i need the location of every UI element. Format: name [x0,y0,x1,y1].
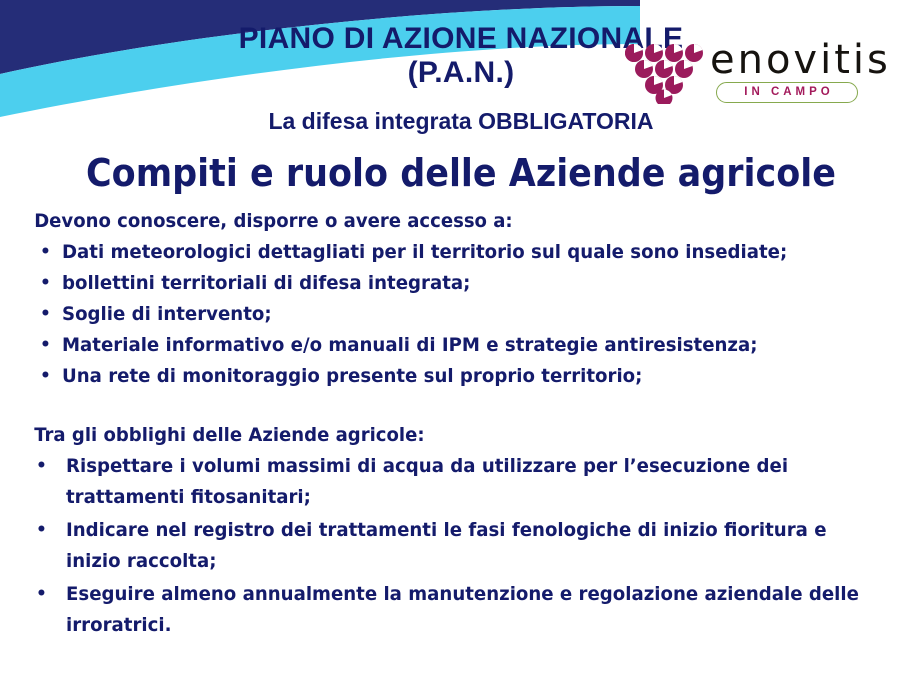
list-item-text: bollettini territoriali di difesa integr… [62,268,883,299]
list-item-text: Soglie di intervento; [62,299,883,330]
requirements-list: Dati meteorologici dettagliati per il te… [0,237,922,392]
in-campo-badge: IN CAMPO [716,82,858,103]
section-spacer [0,392,922,420]
list-item-text: Una rete di monitoraggio presente sul pr… [62,361,883,392]
section-requirements-heading: Devono conoscere, disporre o avere acces… [0,206,876,237]
section-obligations-heading: Tra gli obblighi delle Aziende agricole: [0,420,876,451]
list-item-text: Indicare nel registro dei trattamenti le… [66,515,883,577]
list-item-text: Rispettare i volumi massimi di acqua da … [66,451,883,513]
list-item: Soglie di intervento; [0,299,922,330]
list-item: Rispettare i volumi massimi di acqua da … [0,451,922,513]
list-item: Indicare nel registro dei trattamenti le… [0,515,922,577]
list-item: Eseguire almeno annualmente la manutenzi… [0,579,922,641]
list-item-text: Dati meteorologici dettagliati per il te… [62,237,883,268]
slide-subtitle: La difesa integrata OBBLIGATORIA [0,107,922,135]
enovitis-logo: enovitis IN CAMPO [624,38,884,110]
list-item-text: Eseguire almeno annualmente la manutenzi… [66,579,883,641]
list-item: Materiale informativo e/o manuali di IPM… [0,330,922,361]
page-title: Compiti e ruolo delle Aziende agricole [37,150,885,196]
slide-content: Devono conoscere, disporre o avere acces… [0,206,922,643]
list-item: Una rete di monitoraggio presente sul pr… [0,361,922,392]
obligations-list: Rispettare i volumi massimi di acqua da … [0,451,922,641]
list-item-text: Materiale informativo e/o manuali di IPM… [62,330,883,361]
list-item: Dati meteorologici dettagliati per il te… [0,237,922,268]
section-obligations: Tra gli obblighi delle Aziende agricole:… [0,420,922,641]
in-campo-label: IN CAMPO [717,83,857,101]
enovitis-wordmark: enovitis [710,38,891,82]
grape-cluster-icon [624,42,706,104]
list-item: bollettini territoriali di difesa integr… [0,268,922,299]
slide-canvas: PIANO DI AZIONE NAZIONALE (P.A.N.) La di… [0,0,922,677]
section-requirements: Devono conoscere, disporre o avere acces… [0,206,922,392]
